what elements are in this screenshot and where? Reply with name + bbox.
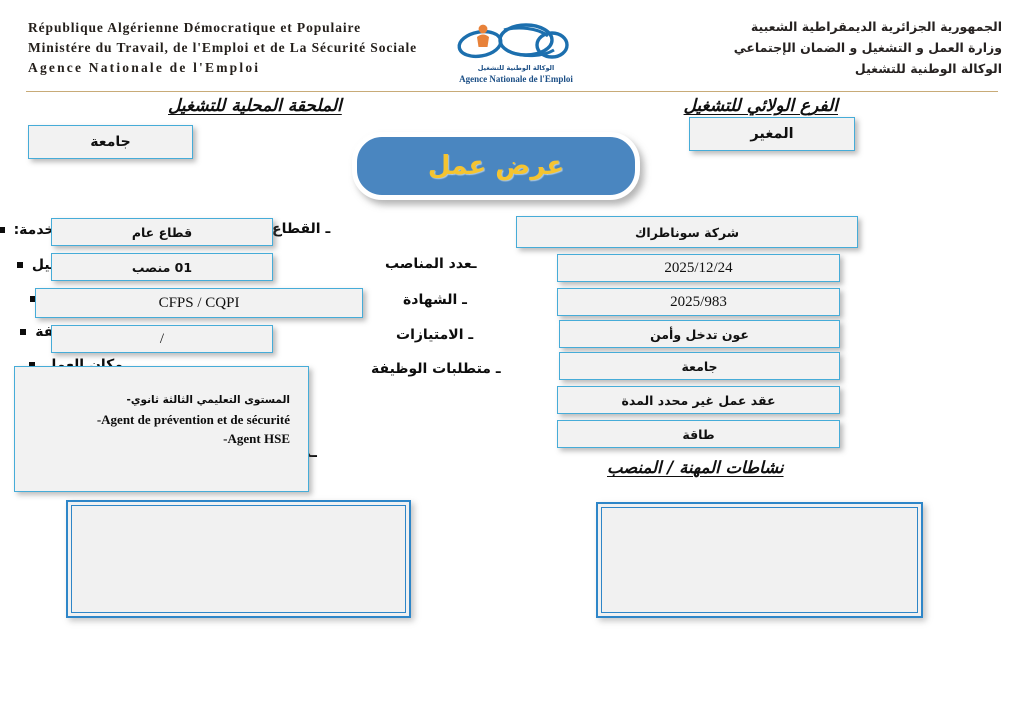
requirement-item-2-text: Agent de prévention et de sécurité	[101, 412, 290, 427]
job-requirements-box[interactable]: المستوى التعليمي الثالثة ثانوي- Agent de…	[14, 366, 309, 492]
header-arabic-line-1: الجمهورية الجزائرية الديمقراطية الشعبية	[734, 16, 1002, 37]
label-positions-count: ـعدد المناصب	[385, 256, 477, 272]
page-title-banner: عرض عمل	[352, 132, 640, 200]
value-positions-count[interactable]: 01 منصب	[51, 253, 273, 281]
local-office-caption: الملحقة المحلية للتشغيل	[168, 96, 342, 116]
anem-logo: الوكالة الوطنية للتشغيل Agence Nationale…	[446, 16, 586, 88]
value-job-title[interactable]: عون تدخل وأمن	[559, 320, 840, 348]
local-office-value[interactable]: جامعة	[28, 125, 193, 159]
value-offer-number[interactable]: 2025/983	[557, 288, 840, 316]
requirement-item-3: Agent HSE-	[15, 429, 298, 448]
anem-logo-icon	[452, 18, 580, 66]
anem-logo-caption-arabic: الوكالة الوطنية للتشغيل	[446, 64, 586, 72]
header-french-line-2: Ministére du Travail, de l'Emploi et de …	[28, 38, 417, 58]
value-activity-field[interactable]: طاقة	[557, 420, 840, 448]
activities-caption: نشاطات المهنة / المنصب	[607, 458, 784, 477]
activities-left-box-content	[71, 505, 406, 613]
label-job-requirements: ـ متطلبات الوظيفة	[371, 361, 501, 377]
square-bullet-icon	[20, 329, 26, 335]
value-registration-date[interactable]: 2025/12/24	[557, 254, 840, 282]
header-arabic-line-2: وزارة العمل و التشغيل و الضمان الإجتماعي	[734, 37, 1002, 58]
value-sector[interactable]: قطاع عام	[51, 218, 273, 246]
label-benefits: ـ الامتيازات	[396, 327, 473, 343]
activities-right-box-content	[601, 507, 918, 613]
header-french-block: République Algérienne Démocratique et Po…	[28, 18, 417, 78]
square-bullet-icon	[0, 227, 5, 233]
wilaya-office-caption: الفرع الولائي للتشغيل	[684, 96, 838, 116]
requirement-item-3-text: Agent HSE	[228, 431, 290, 446]
label-diploma: ـ الشهادة	[403, 292, 467, 308]
header-divider	[26, 91, 998, 92]
header-arabic-block: الجمهورية الجزائرية الديمقراطية الشعبية …	[734, 16, 1002, 79]
square-bullet-icon	[17, 262, 23, 268]
requirement-item-1: المستوى التعليمي الثالثة ثانوي-	[15, 391, 298, 410]
requirement-item-1-text: المستوى التعليمي الثالثة ثانوي	[131, 394, 290, 406]
requirement-item-2: Agent de prévention et de sécurité-	[15, 410, 298, 429]
value-work-location[interactable]: جامعة	[559, 352, 840, 380]
header-french-line-3: Agence Nationale de l'Emploi	[28, 58, 417, 78]
value-diploma[interactable]: CFPS / CQPI	[35, 288, 363, 318]
header-french-line-1: République Algérienne Démocratique et Po…	[28, 18, 417, 38]
value-benefits[interactable]: /	[51, 325, 273, 353]
label-sector: ـ القطاع	[272, 221, 330, 237]
wilaya-office-value[interactable]: المغير	[689, 117, 855, 151]
value-contract-type[interactable]: عقد عمل غير محدد المدة	[557, 386, 840, 414]
activities-right-box[interactable]	[596, 502, 923, 618]
header-arabic-line-3: الوكالة الوطنية للتشغيل	[734, 58, 1002, 79]
activities-left-box[interactable]	[66, 500, 411, 618]
value-employer[interactable]: شركة سوناطراك	[516, 216, 858, 248]
anem-logo-caption-french: Agence Nationale de l'Emploi	[446, 74, 586, 84]
